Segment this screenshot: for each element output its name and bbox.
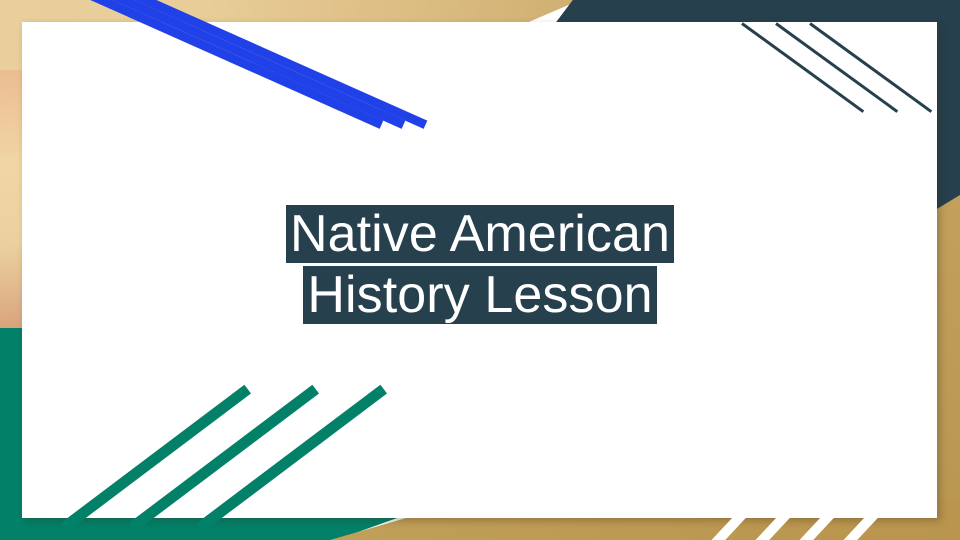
presentation-slide: Native American History Lesson (0, 0, 960, 540)
title-line-2: History Lesson (303, 266, 656, 324)
slide-title: Native American History Lesson (0, 205, 960, 324)
title-line-2-row: History Lesson (0, 266, 960, 324)
title-line-1: Native American (286, 205, 674, 263)
title-line-1-row: Native American (0, 205, 960, 263)
